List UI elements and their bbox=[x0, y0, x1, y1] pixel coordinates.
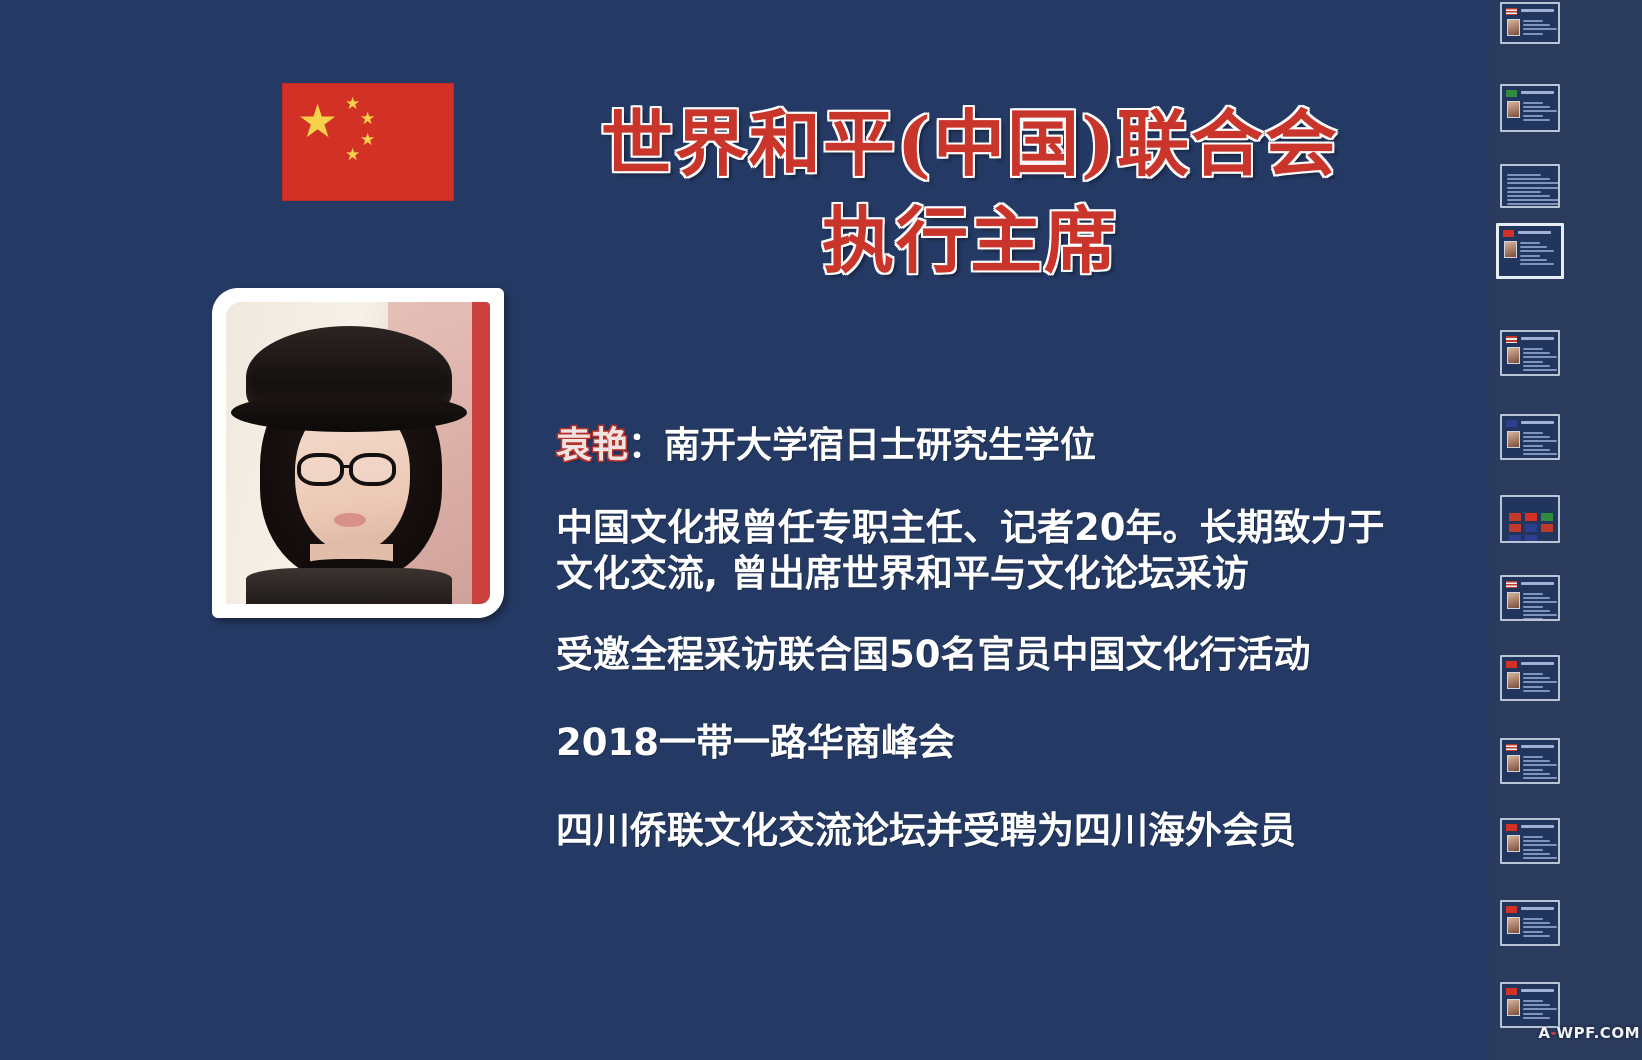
thumbnail-text-line bbox=[1523, 760, 1550, 762]
thumbnail-text-line bbox=[1523, 840, 1550, 842]
thumbnail-text-line bbox=[1523, 20, 1543, 22]
thumbnail-flag-icon bbox=[1506, 988, 1517, 995]
flag-star-4: ★ bbox=[345, 147, 360, 164]
title-line-1: 世界和平(中国)联合会 bbox=[540, 95, 1400, 192]
watermark-suffix: WPF.COM bbox=[1557, 1024, 1640, 1042]
thumbnail-text-line bbox=[1523, 756, 1543, 758]
thumbnail-text-line bbox=[1523, 673, 1543, 675]
thumbnail-title-line bbox=[1521, 907, 1554, 910]
thumbnail-text-line bbox=[1507, 203, 1558, 205]
thumbnail-flag-tile bbox=[1541, 513, 1553, 521]
thumbnail-content bbox=[1502, 820, 1558, 862]
photo-lips bbox=[334, 513, 366, 527]
portrait-frame bbox=[212, 288, 504, 618]
photo-glasses-right bbox=[349, 453, 396, 486]
thumbnail-content bbox=[1502, 332, 1558, 374]
thumbnail-slide-4[interactable] bbox=[1496, 223, 1564, 279]
thumbnail-text-line bbox=[1523, 926, 1557, 928]
thumbnail-flag-icon bbox=[1506, 906, 1517, 913]
thumbnail-text-line bbox=[1523, 449, 1550, 451]
thumbnail-photo bbox=[1507, 592, 1520, 609]
thumbnail-photo bbox=[1507, 917, 1520, 934]
thumbnail-text-line bbox=[1523, 918, 1543, 920]
slide-body-text: 袁艳：南开大学宿日士研究生学位 中国文化报曾任专职主任、记者20年。长期致力于文… bbox=[556, 424, 1416, 896]
thumbnail-text-line bbox=[1507, 199, 1558, 201]
thumbnail-text-line bbox=[1523, 453, 1557, 455]
watermark-prefix: A bbox=[1538, 1024, 1550, 1042]
thumbnail-text-line bbox=[1523, 849, 1543, 851]
thumbnail-flag-icon bbox=[1506, 661, 1517, 668]
flag-star-2: ★ bbox=[360, 111, 375, 128]
slide-title: 世界和平(中国)联合会 执行主席 bbox=[540, 95, 1400, 289]
thumbnail-slide-12[interactable] bbox=[1500, 900, 1560, 946]
thumbnail-text-line bbox=[1523, 110, 1557, 112]
thumbnail-text-line bbox=[1523, 119, 1550, 121]
thumbnail-title-line bbox=[1521, 662, 1554, 665]
thumbnail-slide-10[interactable] bbox=[1500, 738, 1560, 784]
bio-line-career: 中国文化报曾任专职主任、记者20年。长期致力于文化交流, 曾出席世界和平与文化论… bbox=[556, 505, 1416, 597]
thumbnail-text-line bbox=[1523, 857, 1557, 859]
thumbnail-text-line bbox=[1523, 773, 1550, 775]
thumbnail-text-line bbox=[1523, 28, 1557, 30]
thumbnail-slide-8[interactable] bbox=[1500, 575, 1560, 621]
thumbnail-content bbox=[1502, 740, 1558, 782]
thumbnail-content bbox=[1502, 4, 1558, 42]
thumbnail-content bbox=[1502, 86, 1558, 130]
thumbnail-flag-icon bbox=[1506, 8, 1517, 15]
thumbnail-flag-tile bbox=[1525, 513, 1537, 521]
thumbnail-slide-3[interactable] bbox=[1500, 164, 1560, 208]
flag-star-3: ★ bbox=[360, 132, 375, 149]
thumbnail-flag-tile bbox=[1509, 535, 1521, 541]
thumbnail-flag-tile bbox=[1509, 524, 1521, 532]
thumbnail-text-line bbox=[1523, 1008, 1557, 1010]
thumbnail-text-line bbox=[1523, 853, 1550, 855]
thumbnail-text-line bbox=[1507, 191, 1541, 193]
thumbnail-text-line bbox=[1523, 777, 1557, 779]
thumbnail-slide-9[interactable] bbox=[1500, 655, 1560, 701]
thumbnail-text-line bbox=[1523, 440, 1557, 442]
thumbnail-photo bbox=[1507, 999, 1520, 1016]
thumbnail-text-line bbox=[1523, 686, 1543, 688]
thumbnail-text-line bbox=[1523, 1013, 1543, 1015]
thumbnail-slide-2[interactable] bbox=[1500, 84, 1560, 132]
person-name: 袁艳 bbox=[556, 425, 628, 466]
thumbnail-flag-tile bbox=[1541, 524, 1553, 532]
title-line-2: 执行主席 bbox=[540, 192, 1400, 289]
thumbnail-title-line bbox=[1521, 9, 1554, 12]
thumbnail-text-line bbox=[1507, 195, 1550, 197]
thumbnail-text-line bbox=[1523, 365, 1550, 367]
thumbnail-text-line bbox=[1523, 102, 1543, 104]
thumbnail-flag-tile bbox=[1509, 513, 1521, 521]
person-degree: ：南开大学宿日士研究生学位 bbox=[628, 425, 1096, 466]
thumbnail-text-line bbox=[1523, 618, 1543, 619]
thumbnail-photo bbox=[1507, 19, 1520, 36]
thumbnail-text-line bbox=[1523, 836, 1543, 838]
thumbnail-title-line bbox=[1521, 825, 1554, 828]
thumbnail-text-line bbox=[1507, 174, 1541, 176]
thumbnail-text-line bbox=[1523, 690, 1550, 692]
thumbnail-title-line bbox=[1521, 421, 1554, 424]
thumbnail-content bbox=[1502, 416, 1558, 458]
thumbnail-text-line bbox=[1523, 352, 1550, 354]
thumbnail-title-line bbox=[1518, 231, 1551, 234]
thumbnail-text-line bbox=[1523, 681, 1557, 683]
thumbnail-text-line bbox=[1523, 369, 1557, 371]
thumbnail-title-line bbox=[1521, 337, 1554, 340]
thumbnail-content bbox=[1499, 226, 1561, 276]
thumbnail-text-line bbox=[1523, 1004, 1550, 1006]
thumbnail-content bbox=[1502, 657, 1558, 699]
thumbnail-text-line bbox=[1523, 593, 1543, 595]
slide-thumbnail-panel[interactable] bbox=[1490, 0, 1642, 1060]
china-flag-icon: ★ ★ ★ ★ ★ bbox=[282, 83, 454, 201]
thumbnail-text-line bbox=[1523, 361, 1543, 363]
thumbnail-text-line bbox=[1523, 1017, 1550, 1019]
thumbnail-text-line bbox=[1523, 24, 1550, 26]
thumbnail-text-line bbox=[1523, 614, 1557, 616]
thumbnail-text-line bbox=[1523, 935, 1550, 937]
thumbnail-text-line bbox=[1523, 432, 1543, 434]
bio-line-belt-road: 2018一带一路华商峰会 bbox=[556, 720, 1416, 766]
thumbnail-content bbox=[1502, 984, 1558, 1026]
thumbnail-flag-icon bbox=[1506, 420, 1517, 427]
thumbnail-photo bbox=[1507, 347, 1520, 364]
photo-shoulders bbox=[246, 568, 453, 604]
thumbnail-text-line bbox=[1523, 677, 1550, 679]
thumbnail-text-line bbox=[1523, 348, 1543, 350]
thumbnail-text-line bbox=[1520, 259, 1547, 261]
photo-glasses-bridge bbox=[343, 465, 353, 468]
portrait-photo bbox=[226, 302, 472, 604]
presentation-viewer: ★ ★ ★ ★ ★ 世界和平(中国)联合会 执行主席 bbox=[0, 0, 1642, 1060]
flag-star-large: ★ bbox=[297, 98, 338, 144]
thumbnail-flag-icon bbox=[1506, 581, 1517, 588]
thumbnail-text-line bbox=[1507, 187, 1558, 189]
thumbnail-text-line bbox=[1523, 106, 1550, 108]
thumbnail-flag-icon bbox=[1506, 90, 1517, 97]
thumbnail-slide-13[interactable] bbox=[1500, 982, 1560, 1028]
thumbnail-flag-icon bbox=[1506, 336, 1517, 343]
photo-hat-brim bbox=[231, 393, 467, 432]
thumbnail-flag-icon bbox=[1506, 744, 1517, 751]
thumbnail-photo bbox=[1507, 672, 1520, 689]
thumbnail-text-line bbox=[1523, 356, 1557, 358]
thumbnail-text-line bbox=[1523, 601, 1557, 603]
thumbnail-text-line bbox=[1523, 445, 1543, 447]
thumbnail-text-line bbox=[1523, 922, 1550, 924]
thumbnail-text-line bbox=[1523, 606, 1543, 608]
thumbnail-text-line bbox=[1523, 844, 1557, 846]
photo-glasses-left bbox=[297, 453, 344, 486]
thumbnail-content bbox=[1502, 497, 1558, 541]
flag-star-1: ★ bbox=[345, 96, 360, 113]
thumbnail-title-line bbox=[1521, 582, 1554, 585]
bio-line-un-interview: 受邀全程采访联合国50名官员中国文化行活动 bbox=[556, 632, 1416, 678]
slide-canvas[interactable]: ★ ★ ★ ★ ★ 世界和平(中国)联合会 执行主席 bbox=[0, 0, 1490, 1060]
thumbnail-photo bbox=[1507, 835, 1520, 852]
thumbnail-text-line bbox=[1520, 246, 1547, 248]
thumbnail-slide-11[interactable] bbox=[1500, 818, 1560, 864]
thumbnail-text-line bbox=[1523, 764, 1557, 766]
thumbnail-text-line bbox=[1523, 33, 1543, 35]
thumbnail-text-line bbox=[1523, 115, 1543, 117]
thumbnail-text-line bbox=[1523, 597, 1550, 599]
thumbnail-text-line bbox=[1520, 242, 1540, 244]
thumbnail-flag-tile bbox=[1525, 535, 1537, 541]
thumbnail-text-line bbox=[1523, 769, 1543, 771]
thumbnail-flag-icon bbox=[1503, 230, 1514, 237]
thumbnail-text-line bbox=[1507, 178, 1550, 180]
thumbnail-photo bbox=[1504, 241, 1517, 258]
bio-line-sichuan: 四川侨联文化交流论坛并受聘为四川海外会员 bbox=[556, 808, 1416, 854]
thumbnail-content bbox=[1502, 166, 1558, 206]
thumbnail-photo bbox=[1507, 431, 1520, 448]
thumbnail-photo bbox=[1507, 755, 1520, 772]
thumbnail-title-line bbox=[1521, 989, 1554, 992]
thumbnail-flag-icon bbox=[1506, 824, 1517, 831]
thumbnail-text-line bbox=[1520, 263, 1554, 265]
thumbnail-title-line bbox=[1521, 91, 1554, 94]
thumbnail-flag-tile bbox=[1525, 524, 1537, 532]
thumbnail-content bbox=[1502, 902, 1558, 944]
thumbnail-content bbox=[1502, 577, 1558, 619]
bio-line-name: 袁艳：南开大学宿日士研究生学位 bbox=[556, 424, 1416, 469]
thumbnail-slide-6[interactable] bbox=[1500, 414, 1560, 460]
thumbnail-text-line bbox=[1523, 610, 1550, 612]
thumbnail-text-line bbox=[1523, 436, 1550, 438]
thumbnail-text-line bbox=[1520, 250, 1554, 252]
thumbnail-photo bbox=[1507, 101, 1520, 118]
thumbnail-text-line bbox=[1523, 931, 1543, 933]
thumbnail-slide-7[interactable] bbox=[1500, 495, 1560, 543]
thumbnail-text-line bbox=[1520, 255, 1540, 257]
thumbnail-text-line bbox=[1507, 182, 1558, 184]
thumbnail-title-line bbox=[1521, 745, 1554, 748]
thumbnail-slide-1[interactable] bbox=[1500, 2, 1560, 44]
watermark: A-WPF.COM bbox=[1538, 1024, 1640, 1042]
thumbnail-slide-5[interactable] bbox=[1500, 330, 1560, 376]
thumbnail-text-line bbox=[1523, 1000, 1543, 1002]
